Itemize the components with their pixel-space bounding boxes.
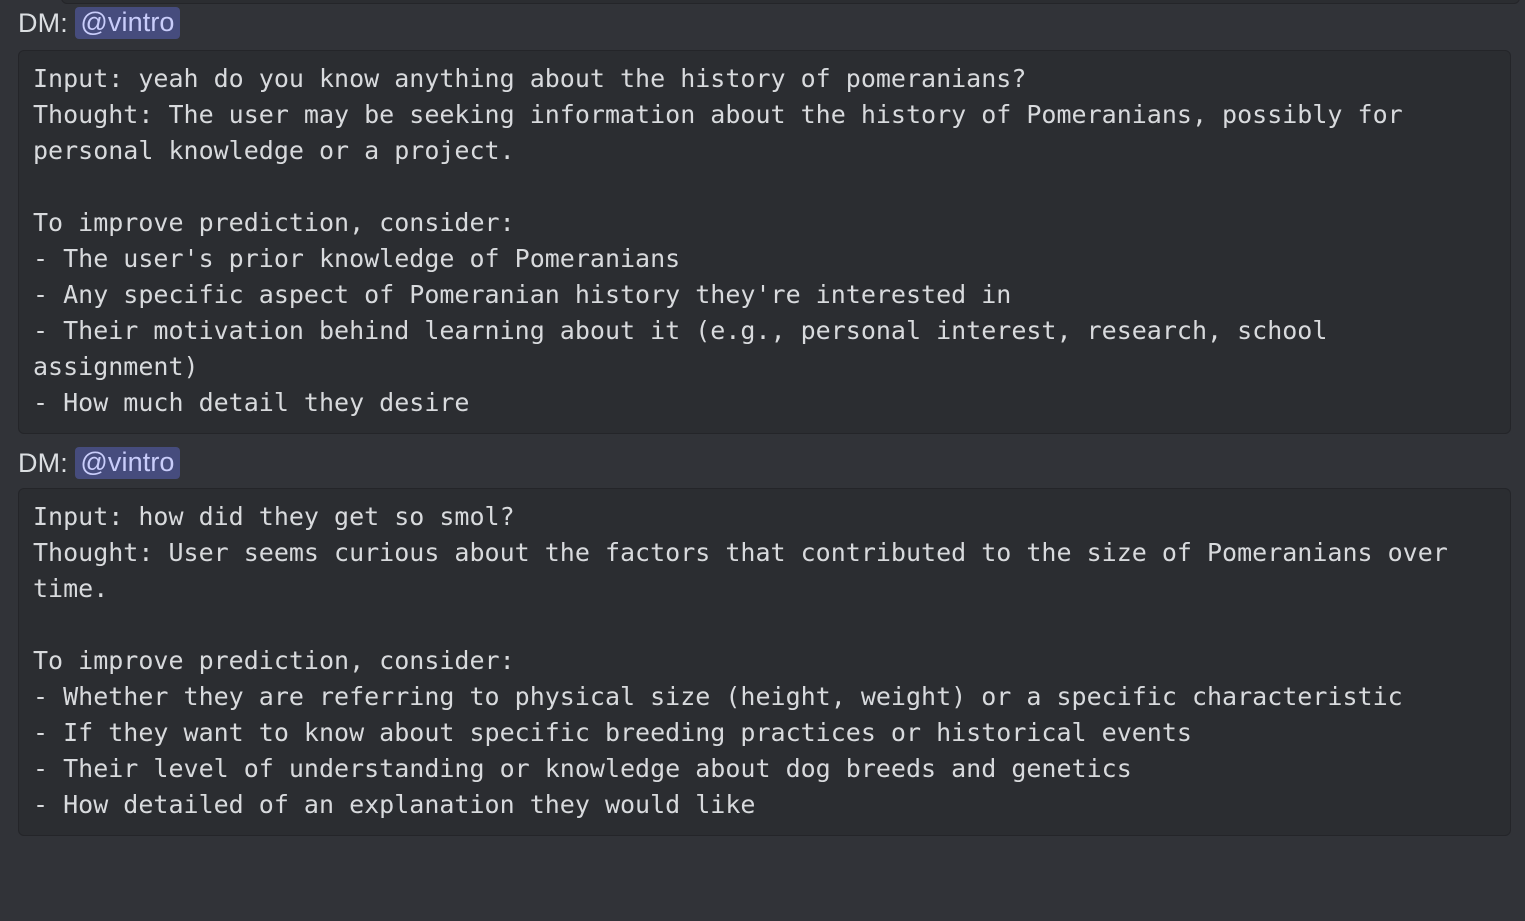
code-block[interactable]: Input: yeah do you know anything about t… — [18, 50, 1511, 434]
mention-vintro[interactable]: @vintro — [75, 7, 179, 39]
chat-message: DM: @vintro Input: yeah do you know anyt… — [0, 0, 1525, 434]
dm-label: DM: — [18, 440, 68, 486]
mention-vintro[interactable]: @vintro — [75, 447, 179, 479]
chat-message-list: DM: @vintro Input: yeah do you know anyt… — [0, 0, 1525, 836]
code-block[interactable]: Input: how did they get so smol? Thought… — [18, 488, 1511, 836]
dm-label-space — [68, 440, 76, 486]
chat-message: DM: @vintro Input: how did they get so s… — [0, 440, 1525, 836]
code-block-text: Input: how did they get so smol? Thought… — [33, 499, 1496, 823]
dm-label: DM: — [18, 0, 68, 46]
dm-label-space — [68, 0, 76, 46]
code-block-text: Input: yeah do you know anything about t… — [33, 61, 1496, 421]
dm-header: DM: @vintro — [0, 0, 1525, 46]
dm-header: DM: @vintro — [0, 440, 1525, 486]
